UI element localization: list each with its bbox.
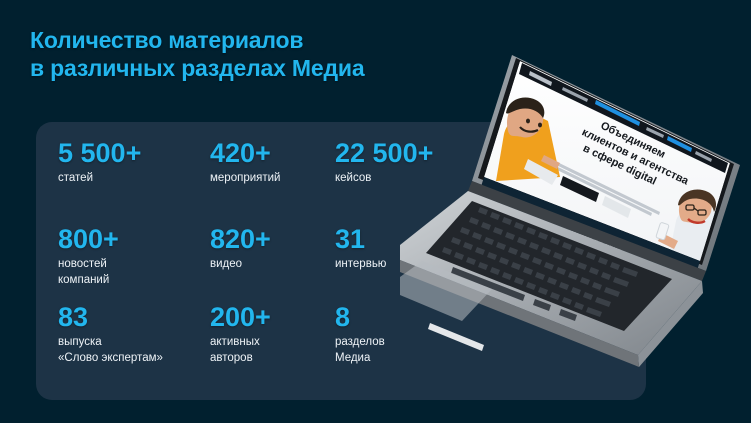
stat-label: новостей компаний: [58, 257, 210, 288]
stat-number: 820+: [210, 224, 335, 254]
stat-number: 800+: [58, 224, 210, 254]
stat-item: 200+ активных авторов: [210, 302, 335, 366]
stat-number: 5 500+: [58, 138, 210, 168]
stat-number: 420+: [210, 138, 335, 168]
stat-label: выпуска «Слово экспертам»: [58, 335, 210, 366]
stat-item: 5 500+ статей: [58, 138, 210, 224]
stat-item: 420+ мероприятий: [210, 138, 335, 224]
laptop-front-lip: [428, 323, 484, 351]
stat-item: 800+ новостей компаний: [58, 224, 210, 302]
infographic-root: Количество материалов в различных раздел…: [0, 0, 751, 423]
stat-label: активных авторов: [210, 335, 335, 366]
stat-label: видео: [210, 257, 335, 273]
stat-item: 83 выпуска «Слово экспертам»: [58, 302, 210, 366]
stat-number: 200+: [210, 302, 335, 332]
laptop-illustration: Объединяем клиентов и агентства в сфере …: [400, 55, 751, 395]
page-title: Количество материалов в различных раздел…: [30, 26, 364, 82]
stat-label: статей: [58, 171, 210, 187]
stat-label: мероприятий: [210, 171, 335, 187]
stat-item: 820+ видео: [210, 224, 335, 302]
stat-number: 83: [58, 302, 210, 332]
